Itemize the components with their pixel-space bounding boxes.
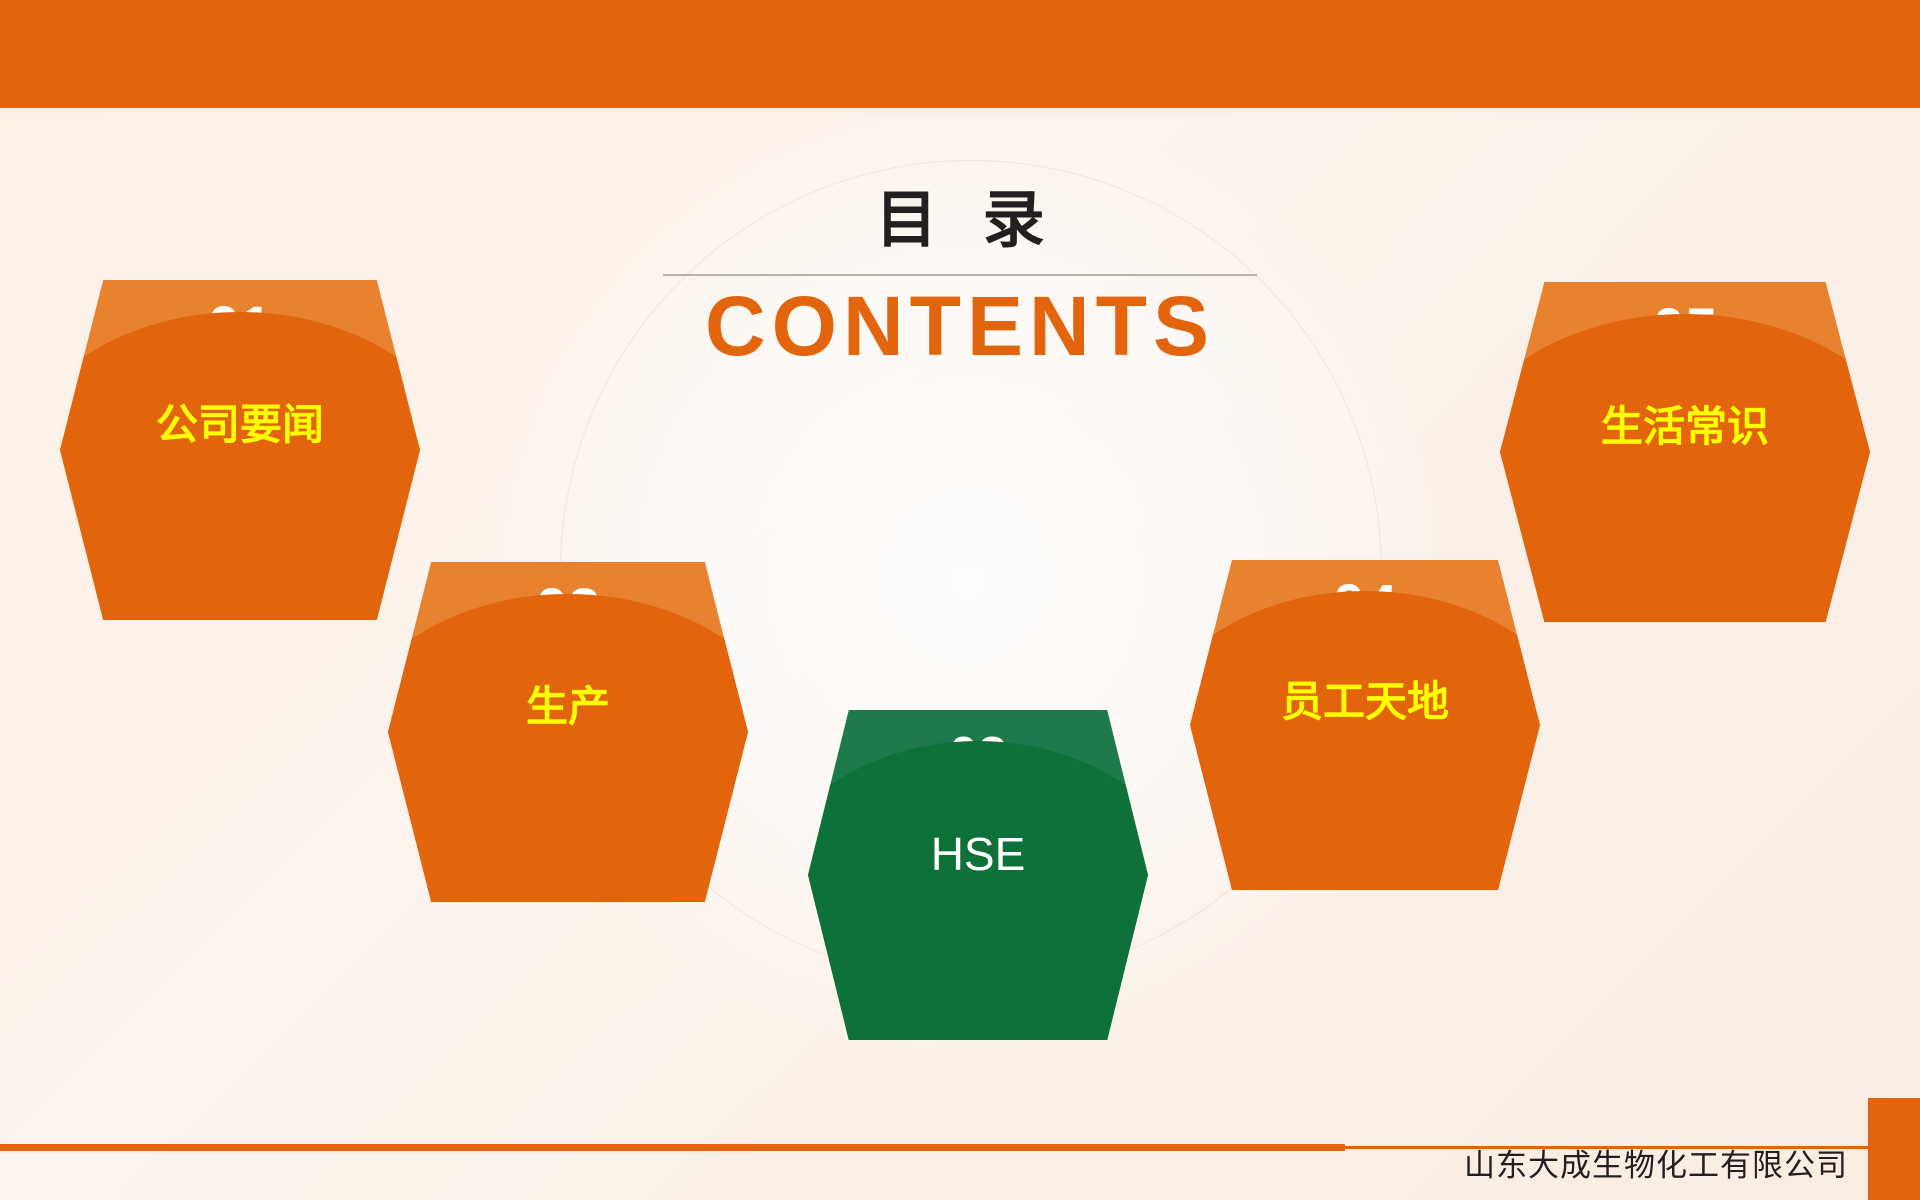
- toc-item-04-shape: 04 员工天地: [1190, 560, 1540, 890]
- toc-item-05[interactable]: 05 生活常识: [1500, 282, 1870, 622]
- toc-item-02-label: 生产: [388, 684, 748, 730]
- toc-item-03[interactable]: 03 HSE: [808, 710, 1148, 1040]
- toc-item-02-shape: 02 生产: [388, 562, 748, 902]
- toc-item-04-arc: [1190, 591, 1540, 890]
- page-title-cn: 目 录: [644, 190, 1290, 252]
- page-title-en: CONTENTS: [630, 282, 1290, 370]
- toc-item-03-arc: [808, 741, 1148, 1040]
- slide-canvas: 目 录 CONTENTS 01 公司要闻 02 生产: [0, 0, 1920, 1200]
- footer-company-name: 山东大成生物化工有限公司: [1464, 1140, 1848, 1185]
- top-orange-band: [0, 0, 1920, 108]
- toc-item-01-label: 公司要闻: [60, 402, 420, 448]
- toc-item-03-label: HSE: [808, 829, 1148, 880]
- title-block: 目 录 CONTENTS: [630, 190, 1290, 370]
- toc-item-01-arc: [60, 312, 420, 620]
- toc-item-04[interactable]: 04 员工天地: [1190, 560, 1540, 890]
- toc-item-01[interactable]: 01 公司要闻: [60, 280, 420, 620]
- title-divider: [663, 274, 1257, 276]
- toc-item-02[interactable]: 02 生产: [388, 562, 748, 902]
- toc-item-03-shape: 03 HSE: [808, 710, 1148, 1040]
- toc-item-05-label: 生活常识: [1500, 404, 1870, 450]
- footer-corner-block: [1868, 1098, 1920, 1200]
- toc-item-05-arc: [1500, 314, 1870, 622]
- top-band-edge: [0, 108, 1920, 113]
- toc-item-04-label: 员工天地: [1190, 679, 1540, 725]
- footer-rule: [0, 1144, 1345, 1151]
- toc-item-05-shape: 05 生活常识: [1500, 282, 1870, 622]
- toc-item-01-shape: 01 公司要闻: [60, 280, 420, 620]
- toc-item-02-arc: [388, 594, 748, 902]
